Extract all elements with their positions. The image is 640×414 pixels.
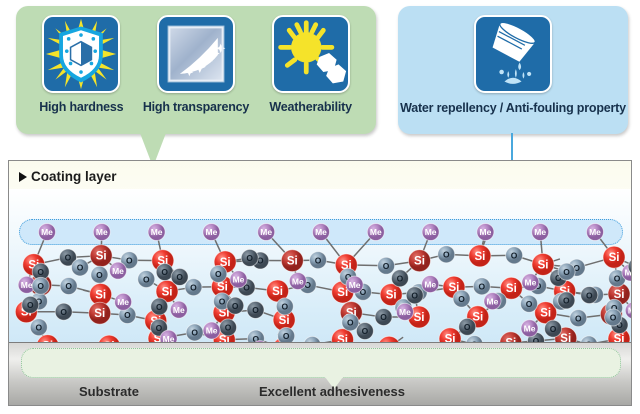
svg-text:O: O — [27, 300, 34, 310]
atom-si: Si — [532, 253, 554, 275]
atom-si: Si — [281, 250, 303, 272]
svg-text:O: O — [191, 328, 198, 338]
svg-text:O: O — [161, 267, 168, 277]
svg-text:O: O — [411, 291, 418, 301]
pouring-bucket-water-icon — [474, 15, 552, 93]
coating-layer-title: Coating layer — [19, 169, 117, 184]
atom-o: O — [91, 266, 108, 283]
svg-text:O: O — [575, 313, 582, 323]
features-panel: High hardness — [16, 6, 376, 134]
svg-text:O: O — [610, 313, 617, 323]
atom-o: O — [521, 295, 538, 312]
atom-me: Me — [625, 302, 632, 319]
svg-text:Me: Me — [260, 227, 272, 237]
svg-text:O: O — [443, 250, 450, 260]
svg-text:Si: Si — [272, 286, 283, 298]
svg-text:O: O — [563, 267, 570, 277]
atom-o: O — [391, 270, 408, 287]
svg-text:Si: Si — [279, 315, 290, 327]
water-panel: Water repellency / Anti-fouling property — [398, 6, 628, 134]
svg-text:O: O — [362, 326, 369, 336]
svg-text:O: O — [96, 270, 103, 280]
atom-me: Me — [422, 224, 439, 241]
water-card-label: Water repellency / Anti-fouling property — [400, 101, 626, 115]
feature-card-weatherability[interactable]: Weatherability — [259, 15, 363, 114]
svg-text:O: O — [246, 253, 253, 263]
svg-text:Si: Si — [474, 251, 485, 263]
svg-text:O: O — [77, 263, 84, 273]
svg-text:O: O — [126, 255, 133, 265]
svg-text:Me: Me — [233, 275, 245, 285]
water-card[interactable]: Water repellency / Anti-fouling property — [398, 6, 628, 115]
atom-si: Si — [469, 245, 491, 267]
svg-text:Me: Me — [292, 276, 304, 286]
atom-o: O — [581, 287, 598, 304]
atom-me: Me — [367, 224, 384, 241]
feature-card-high-transparency[interactable]: High transparency — [144, 15, 248, 114]
svg-text:O: O — [347, 318, 354, 328]
svg-text:O: O — [614, 274, 621, 284]
svg-text:O: O — [60, 307, 67, 317]
svg-text:O: O — [252, 305, 259, 315]
svg-text:Me: Me — [479, 227, 491, 237]
svg-text:Si: Si — [96, 251, 107, 263]
svg-text:O: O — [176, 272, 183, 282]
svg-text:O: O — [124, 310, 131, 320]
atom-o: O — [156, 264, 173, 281]
svg-text:Si: Si — [95, 289, 106, 301]
atom-o: O — [342, 314, 359, 331]
svg-text:Me: Me — [524, 323, 536, 333]
atom-me: Me — [422, 276, 439, 293]
adhesion-band — [21, 348, 621, 378]
svg-text:Me: Me — [589, 227, 601, 237]
sun-crystal-icon — [272, 15, 350, 93]
atom-si: Si — [408, 250, 430, 272]
coating-layer-body: MeMeMeMeMeMeMeMeMeMeMeSiSiSiSiSiSiSiSiSi… — [9, 189, 632, 344]
svg-text:Me: Me — [534, 227, 546, 237]
atom-me: Me — [521, 320, 538, 337]
atom-o: O — [276, 298, 293, 315]
svg-text:Me: Me — [487, 296, 499, 306]
coating-layer-label: Coating layer — [31, 169, 117, 184]
atom-o: O — [378, 257, 395, 274]
svg-text:O: O — [458, 294, 465, 304]
svg-text:Si: Si — [414, 312, 425, 324]
feature-card-high-hardness[interactable]: High hardness — [29, 15, 133, 114]
svg-text:O: O — [37, 267, 44, 277]
svg-text:O: O — [282, 302, 289, 312]
svg-text:O: O — [35, 322, 42, 332]
svg-text:O: O — [464, 322, 471, 332]
atom-me: Me — [484, 293, 501, 310]
svg-text:Si: Si — [609, 252, 620, 264]
atom-o: O — [473, 278, 490, 295]
atom-me: Me — [346, 276, 363, 293]
svg-text:Si: Si — [386, 290, 397, 302]
svg-text:O: O — [156, 323, 163, 333]
svg-text:O: O — [550, 324, 557, 334]
atom-o: O — [171, 268, 188, 285]
atom-me: Me — [203, 322, 220, 339]
svg-text:O: O — [65, 253, 72, 263]
svg-text:Me: Me — [206, 326, 218, 336]
substrate-label: Substrate — [79, 384, 139, 399]
svg-text:Me: Me — [41, 227, 53, 237]
atom-me: Me — [39, 224, 56, 241]
atom-o: O — [72, 259, 89, 276]
svg-text:O: O — [511, 251, 518, 261]
atom-o: O — [375, 309, 392, 326]
atom-me: Me — [115, 293, 132, 310]
atom-me: Me — [522, 274, 539, 291]
atom-o: O — [138, 271, 155, 288]
svg-text:O: O — [283, 331, 290, 341]
atom-o: O — [545, 320, 562, 337]
svg-text:O: O — [479, 282, 486, 292]
atom-me: Me — [587, 224, 604, 241]
feature-card-label: High transparency — [143, 100, 249, 114]
svg-text:Si: Si — [162, 286, 173, 298]
svg-text:O: O — [156, 302, 163, 312]
svg-text:O: O — [586, 290, 593, 300]
svg-text:O: O — [65, 281, 72, 291]
atom-me: Me — [396, 303, 413, 320]
atom-me: Me — [532, 224, 549, 241]
atom-o: O — [185, 279, 202, 296]
svg-text:Me: Me — [96, 227, 108, 237]
atom-me: Me — [93, 224, 110, 241]
atom-me: Me — [477, 224, 494, 241]
svg-text:Me: Me — [525, 277, 537, 287]
atom-o: O — [438, 246, 455, 263]
atom-o: O — [220, 319, 237, 336]
atom-si: Si — [603, 246, 625, 268]
svg-text:Me: Me — [112, 266, 124, 276]
svg-text:Me: Me — [151, 227, 163, 237]
atom-me: Me — [148, 224, 165, 241]
svg-text:Si: Si — [414, 256, 425, 268]
atom-me: Me — [258, 224, 275, 241]
shield-starburst-icon — [42, 15, 120, 93]
svg-text:Si: Si — [94, 308, 105, 320]
svg-text:O: O — [397, 273, 404, 283]
atom-o: O — [227, 297, 244, 314]
svg-text:O: O — [143, 274, 150, 284]
svg-text:Me: Me — [370, 227, 382, 237]
atom-me: Me — [170, 301, 187, 318]
atom-o: O — [506, 247, 523, 264]
svg-text:Me: Me — [117, 297, 129, 307]
svg-text:O: O — [232, 301, 239, 311]
atom-o: O — [570, 310, 587, 327]
atom-o: O — [60, 278, 77, 295]
substrate-layer: Substrate Excellent adhesiveness — [9, 342, 632, 405]
svg-text:Me: Me — [425, 227, 437, 237]
svg-text:Me: Me — [349, 280, 361, 290]
atom-si: Si — [89, 302, 111, 324]
atom-o: O — [459, 318, 476, 335]
svg-text:O: O — [225, 323, 232, 333]
glass-sparkle-icon — [157, 15, 235, 93]
svg-text:Me: Me — [173, 305, 185, 315]
svg-text:O: O — [190, 282, 197, 292]
atom-o: O — [453, 290, 470, 307]
atom-o: O — [151, 298, 168, 315]
svg-text:Si: Si — [287, 256, 298, 268]
svg-text:O: O — [215, 269, 222, 279]
atom-o: O — [30, 319, 47, 336]
svg-text:Me: Me — [21, 280, 33, 290]
atom-me: Me — [313, 224, 330, 241]
atom-o: O — [241, 249, 258, 266]
svg-text:O: O — [383, 261, 390, 271]
svg-text:O: O — [219, 296, 226, 306]
atom-o: O — [186, 324, 203, 341]
svg-text:Si: Si — [506, 283, 517, 295]
svg-text:Si: Si — [337, 287, 348, 299]
atom-o: O — [558, 263, 575, 280]
atom-o: O — [605, 309, 622, 326]
atom-me: Me — [203, 224, 220, 241]
atom-o: O — [310, 252, 327, 269]
atom-o: O — [32, 277, 49, 294]
adhesiveness-label: Excellent adhesiveness — [259, 384, 405, 399]
atom-o: O — [22, 296, 39, 313]
svg-text:Me: Me — [315, 227, 327, 237]
feature-card-label: Weatherability — [269, 100, 351, 114]
svg-text:Me: Me — [205, 227, 217, 237]
feature-card-list: High hardness — [16, 6, 376, 114]
diagram-frame: Coating layer — [8, 160, 632, 406]
svg-text:O: O — [563, 296, 570, 306]
svg-text:Si: Si — [538, 259, 549, 271]
svg-text:Me: Me — [424, 279, 436, 289]
atom-me: Me — [110, 262, 127, 279]
atom-o: O — [558, 292, 575, 309]
atom-o: O — [356, 323, 373, 340]
svg-text:Me: Me — [628, 306, 632, 316]
svg-text:Si: Si — [217, 282, 228, 294]
svg-text:O: O — [315, 255, 322, 265]
triangle-marker-icon — [19, 172, 27, 182]
atom-o: O — [210, 265, 227, 282]
callout-panels: High hardness — [0, 0, 640, 150]
atom-o: O — [247, 301, 264, 318]
atom-o: O — [406, 287, 423, 304]
svg-text:O: O — [380, 312, 387, 322]
atom-me: Me — [289, 273, 306, 290]
atom-si: Si — [90, 245, 112, 267]
svg-text:O: O — [526, 299, 533, 309]
svg-text:O: O — [37, 281, 44, 291]
atom-me: Me — [230, 271, 247, 288]
feature-card-label: High hardness — [39, 100, 123, 114]
atom-o: O — [55, 303, 72, 320]
svg-text:Si: Si — [540, 308, 551, 320]
svg-text:Me: Me — [399, 307, 411, 317]
